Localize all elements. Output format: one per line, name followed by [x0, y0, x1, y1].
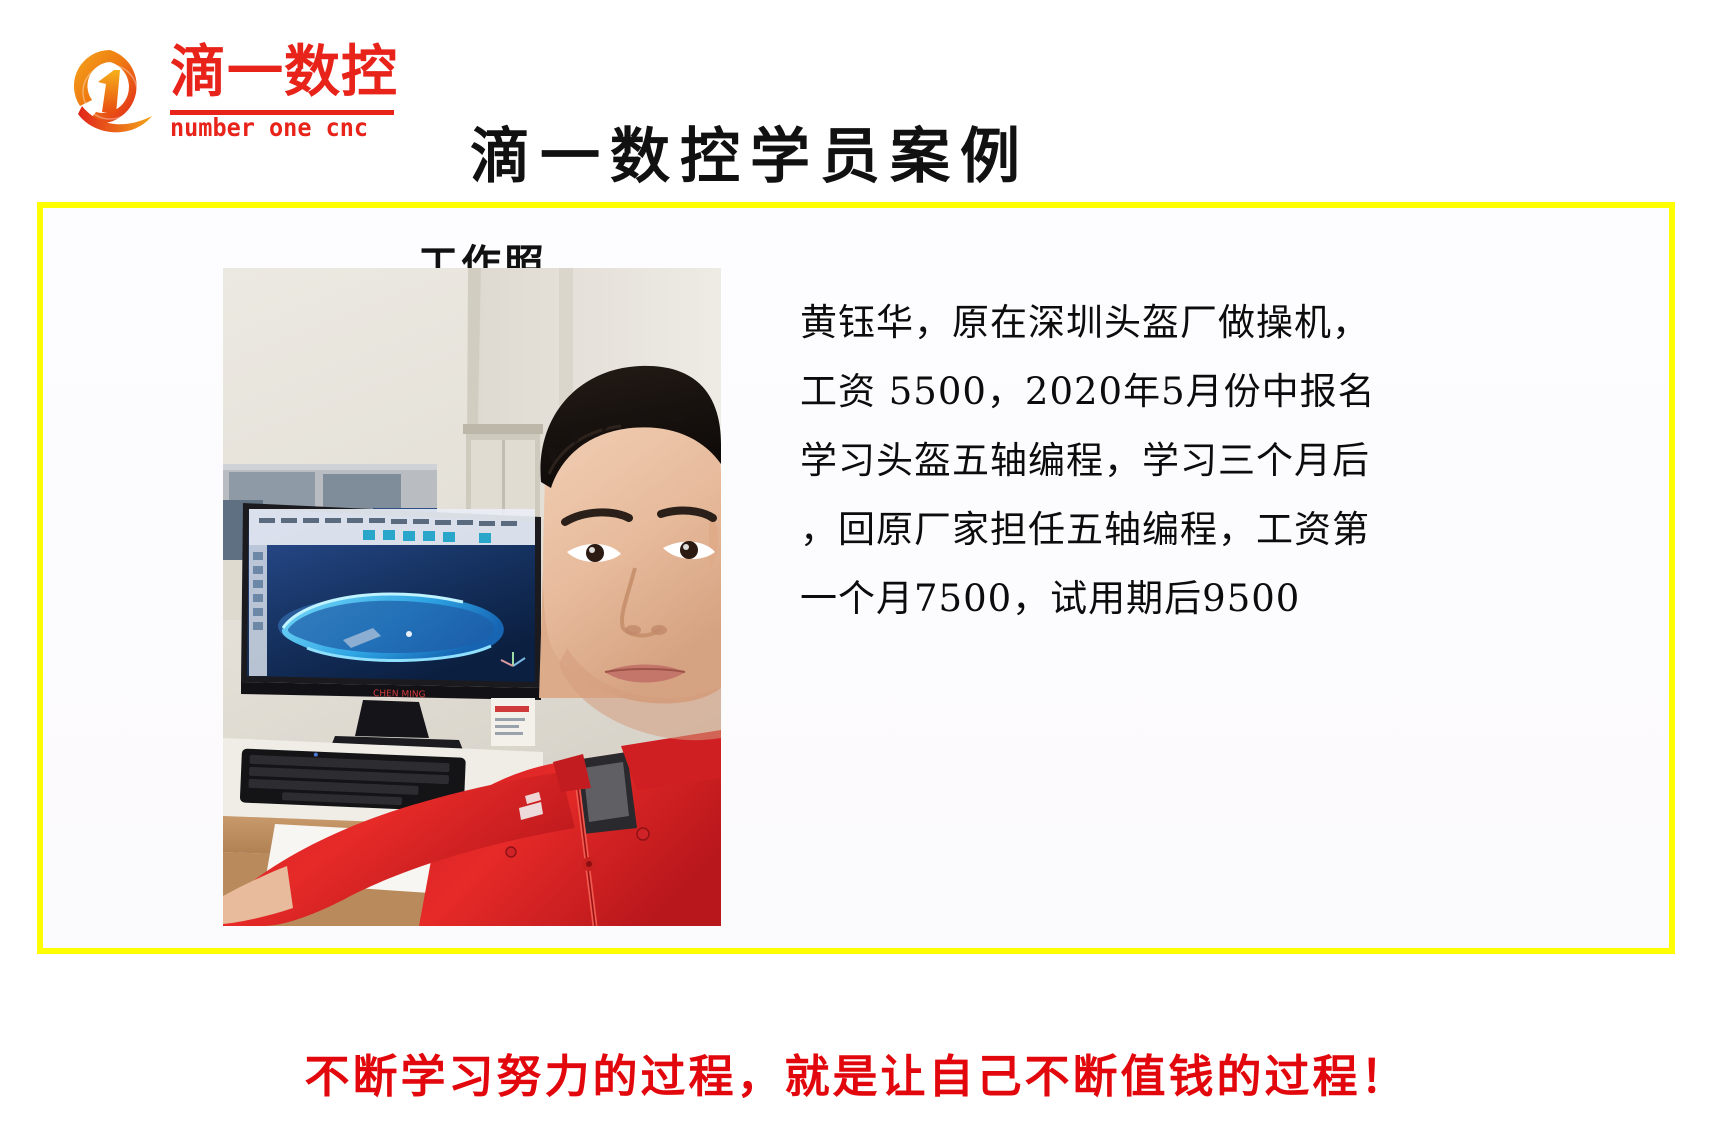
page-title: 滴一数控学员案例 — [470, 108, 1030, 195]
brand-wordmark-en: number one cnc — [170, 114, 384, 142]
page-header: 滴一数控 number one cnc 滴一数控学员案例 — [0, 0, 1713, 200]
story-line: 学习头盔五轴编程，学习三个月后 — [800, 426, 1440, 495]
story-line: 一个月7500，试用期后9500 — [800, 564, 1440, 633]
story-line: ，回原厂家担任五轴编程，工资第 — [800, 495, 1440, 564]
story-line: 黄钰华，原在深圳头盔厂做操机， — [800, 288, 1440, 357]
work-photo-illustration: CHEN MING — [223, 268, 721, 926]
svg-text:CHEN MING: CHEN MING — [373, 689, 426, 700]
story-line: 工资 5500，2020年5月份中报名 — [800, 357, 1440, 426]
brand-wordmark-cn: 滴一数控 — [170, 42, 398, 104]
brand-logo: 滴一数控 number one cnc — [62, 42, 392, 142]
footer-slogan: 不断学习努力的过程，就是让自己不断值钱的过程！ — [0, 1040, 1713, 1105]
number-one-swoosh-logo-icon — [62, 44, 158, 140]
student-work-photo: CHEN MING — [223, 268, 721, 926]
student-story-text: 黄钰华，原在深圳头盔厂做操机， 工资 5500，2020年5月份中报名 学习头盔… — [800, 288, 1440, 633]
